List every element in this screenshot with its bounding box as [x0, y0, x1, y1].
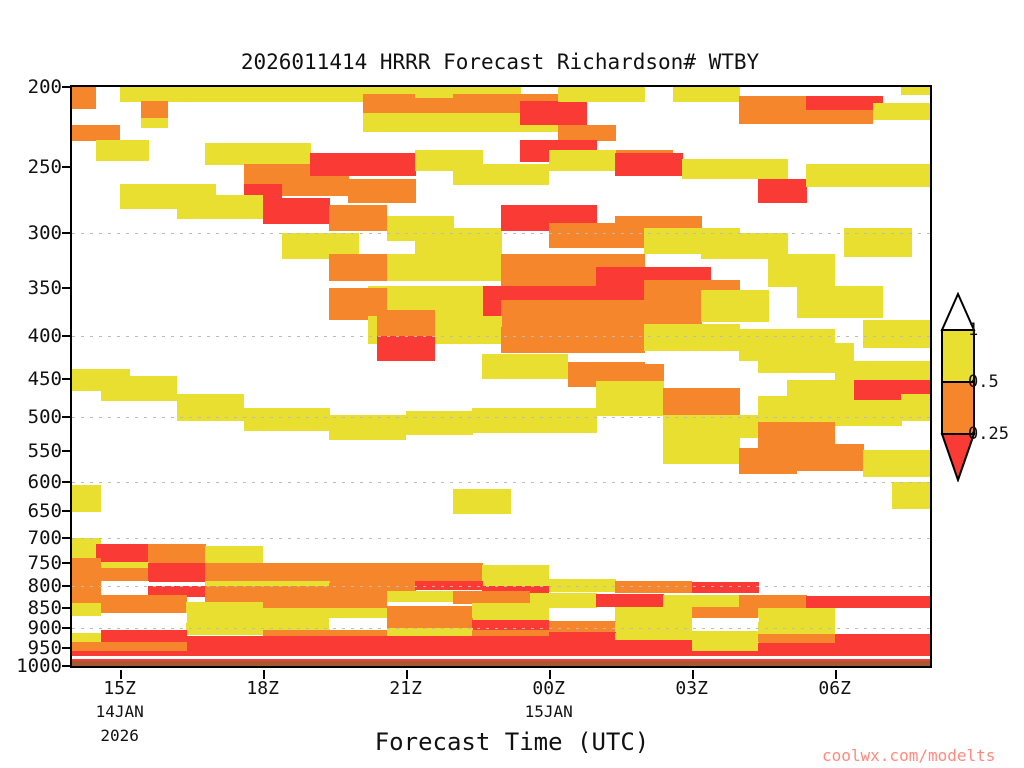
heatmap-cell	[558, 125, 616, 141]
heatmap-cell	[596, 594, 663, 608]
gridline	[72, 336, 930, 337]
y-axis-tick-label: 850	[28, 597, 62, 619]
colorbar-tick-label: 0.5	[968, 372, 999, 392]
heatmap-cell	[453, 164, 549, 184]
heatmap-cell	[663, 388, 740, 416]
y-axis-tick-label: 350	[28, 277, 62, 299]
heatmap-cell	[758, 179, 806, 204]
heatmap-cell	[739, 96, 806, 110]
gridline	[72, 628, 930, 629]
heatmap-cell	[501, 327, 645, 353]
y-axis-tick	[62, 627, 70, 629]
heatmap-cell	[453, 489, 511, 514]
heatmap-cell	[310, 153, 415, 177]
heatmap-cell	[72, 125, 120, 141]
y-axis-tick	[62, 665, 70, 667]
heatmap-cell	[186, 636, 549, 651]
y-axis-tick-label: 800	[28, 575, 62, 597]
heatmap-cell	[663, 438, 740, 465]
heatmap-cell	[72, 616, 101, 634]
heatmap-cell	[177, 195, 263, 219]
y-axis-tick	[62, 287, 70, 289]
y-axis-tick	[62, 607, 70, 609]
heatmap-cell	[186, 623, 263, 635]
y-axis-tick	[62, 378, 70, 380]
heatmap-plot-area	[70, 85, 932, 668]
y-axis-tick-label: 550	[28, 440, 62, 462]
gridline	[72, 538, 930, 539]
colorbar-tick-label: 0.25	[968, 424, 1009, 444]
y-axis-tick-label: 650	[28, 500, 62, 522]
y-axis-tick	[62, 416, 70, 418]
heatmap-cell	[615, 581, 692, 592]
heatmap-cell	[186, 602, 263, 613]
y-axis-tick	[62, 450, 70, 452]
heatmap-cell	[472, 408, 597, 433]
heatmap-cell	[739, 448, 797, 474]
heatmap-cell	[549, 150, 616, 171]
heatmap-cell	[615, 607, 692, 623]
x-axis-tick-label: 21Z	[389, 678, 422, 699]
y-axis-tick-label: 450	[28, 368, 62, 390]
heatmap-cell	[387, 606, 473, 618]
x-axis-tick-label: 18Z	[246, 678, 279, 699]
heatmap-cell	[663, 415, 759, 438]
heatmap-cell	[377, 336, 435, 361]
heatmap-cell	[739, 110, 873, 124]
heatmap-cell	[101, 581, 149, 596]
heatmap-cell	[244, 408, 330, 431]
heatmap-cell	[596, 380, 663, 415]
heatmap-cell	[148, 563, 206, 581]
y-axis-tick-label: 250	[28, 156, 62, 178]
heatmap-cell	[186, 612, 263, 624]
heatmap-cell	[263, 198, 330, 224]
heatmap-cell	[701, 290, 768, 322]
gridline	[72, 586, 930, 587]
heatmap-cell	[692, 607, 759, 619]
heatmap-cell	[520, 101, 587, 125]
y-axis-tick-label: 200	[28, 76, 62, 98]
heatmap-cell	[558, 87, 644, 102]
heatmap-cell	[72, 485, 101, 511]
heatmap-cell	[797, 286, 883, 318]
heatmap-cell	[205, 143, 310, 165]
heatmap-cell	[806, 596, 931, 609]
heatmap-cell	[482, 565, 549, 586]
heatmap-cell	[72, 581, 101, 604]
heatmap-cell	[673, 87, 740, 102]
heatmap-cell	[148, 544, 206, 564]
heatmap-cells	[72, 87, 930, 666]
heatmap-cell	[263, 620, 330, 631]
heatmap-cell	[101, 568, 149, 582]
heatmap-cell	[549, 608, 616, 621]
heatmap-cell	[615, 640, 692, 651]
heatmap-cell	[387, 254, 502, 281]
y-axis-tick	[62, 86, 70, 88]
heatmap-cell	[758, 396, 835, 423]
heatmap-cell	[472, 620, 549, 631]
x-axis-date-label: 15JAN	[525, 702, 573, 721]
heatmap-cell	[768, 254, 835, 287]
heatmap-cell	[835, 608, 931, 623]
y-axis-tick	[62, 510, 70, 512]
y-axis-labels: 2002503003504004505005506006507007508008…	[0, 85, 62, 668]
heatmap-cell	[329, 205, 387, 231]
colorbar-tick-label: 1	[968, 320, 978, 340]
x-axis-tick-label: 06Z	[818, 678, 851, 699]
heatmap-cell	[806, 164, 931, 187]
heatmap-cell	[453, 591, 530, 604]
heatmap-cell	[682, 159, 787, 180]
heatmap-cell	[549, 621, 616, 633]
y-axis-tick-label: 600	[28, 471, 62, 493]
heatmap-cell	[377, 310, 435, 337]
y-axis-tick	[62, 335, 70, 337]
heatmap-cell	[141, 118, 168, 128]
watermark: coolwx.com/modelts	[822, 746, 995, 765]
y-axis-tick	[62, 232, 70, 234]
x-axis-tick-label: 15Z	[103, 678, 136, 699]
heatmap-cell	[482, 354, 568, 379]
heatmap-cell	[692, 582, 759, 593]
colorbar-tick-labels: 10.50.25	[968, 292, 1024, 482]
heatmap-cell	[387, 591, 454, 602]
gridline	[72, 482, 930, 483]
heatmap-cell	[892, 482, 931, 509]
heatmap-cell	[806, 96, 883, 110]
heatmap-cell	[406, 411, 473, 436]
chart-canvas: 2026011414 HRRR Forecast Richardson# WTB…	[0, 0, 1024, 768]
heatmap-cell	[596, 364, 663, 381]
heatmap-cell	[72, 87, 96, 109]
heatmap-cell	[692, 618, 759, 632]
heatmap-cell	[329, 415, 406, 439]
heatmap-cell	[101, 595, 187, 613]
heatmap-cell	[663, 595, 740, 608]
page-title: 2026011414 HRRR Forecast Richardson# WTB…	[0, 50, 1000, 74]
heatmap-cell	[901, 85, 930, 95]
y-axis-tick-label: 400	[28, 325, 62, 347]
x-axis-tick-label: 00Z	[532, 678, 565, 699]
heatmap-cell	[797, 444, 864, 470]
y-axis-tick-label: 750	[28, 552, 62, 574]
heatmap-cell	[692, 631, 759, 643]
y-axis-tick	[62, 481, 70, 483]
gridline	[72, 233, 930, 234]
heatmap-cell	[101, 630, 187, 642]
heatmap-cell	[615, 153, 682, 177]
heatmap-cell	[348, 179, 415, 204]
heatmap-cell	[72, 603, 101, 616]
heatmap-cell	[835, 400, 902, 425]
heatmap-cell	[141, 101, 168, 118]
y-axis-tick-label: 300	[28, 222, 62, 244]
heatmap-cell	[863, 320, 930, 348]
x-axis-date-label: 14JAN	[96, 702, 144, 721]
y-axis-tick	[62, 166, 70, 168]
y-axis-tick-label: 700	[28, 527, 62, 549]
y-axis-tick	[62, 647, 70, 649]
y-axis-tick-label: 500	[28, 406, 62, 428]
gridline	[72, 417, 930, 418]
heatmap-cell	[758, 608, 835, 623]
heatmap-cell	[863, 450, 930, 477]
heatmap-cell	[101, 376, 178, 402]
heatmap-cell	[873, 103, 931, 120]
y-axis-tick	[62, 585, 70, 587]
heatmap-cell	[282, 176, 349, 196]
heatmap-cell	[96, 140, 149, 160]
heatmap-cell	[472, 603, 549, 620]
heatmap-cell	[72, 558, 101, 582]
y-axis-tick	[62, 537, 70, 539]
y-axis-tick	[62, 562, 70, 564]
x-axis-tick-label: 03Z	[675, 678, 708, 699]
gridline	[72, 666, 930, 667]
heatmap-cell	[387, 618, 473, 629]
